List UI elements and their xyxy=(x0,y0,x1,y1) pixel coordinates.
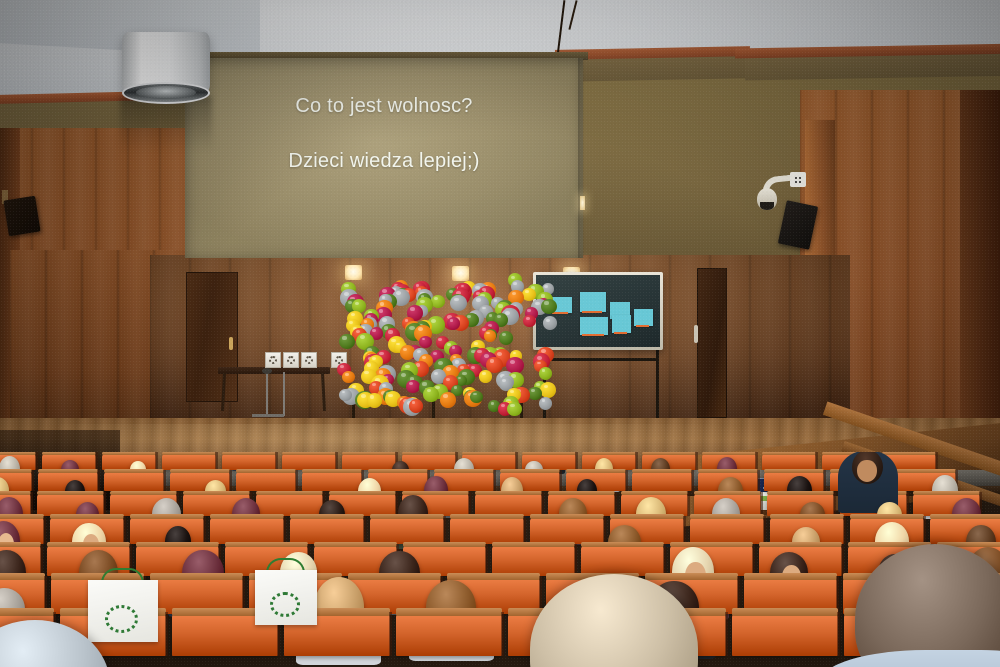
seat-divider xyxy=(165,612,168,656)
auditorium-seat[interactable] xyxy=(396,614,502,656)
audience-seating xyxy=(0,452,1000,667)
board-note-tape xyxy=(582,334,604,336)
ceiling-lamp-reflector xyxy=(136,86,196,99)
balloon xyxy=(440,392,457,408)
seat-top-rail xyxy=(396,608,502,616)
balloon xyxy=(539,397,553,410)
award-seal-icon xyxy=(287,356,295,364)
balloon xyxy=(450,295,467,311)
board-note xyxy=(612,315,631,333)
balloon xyxy=(484,330,496,342)
balloon xyxy=(447,317,461,330)
board-leg-right xyxy=(656,350,659,428)
balloon xyxy=(342,371,355,383)
award-seal-icon xyxy=(305,356,313,364)
balloon xyxy=(409,399,423,412)
board-note-tape xyxy=(636,325,649,327)
balloon xyxy=(470,391,483,404)
board-note-tape xyxy=(582,311,602,313)
seat-top-rail xyxy=(732,608,838,616)
screen-side-lamp xyxy=(580,196,585,210)
gift-bag-logo-icon xyxy=(105,605,139,633)
board-note-tape xyxy=(552,312,568,314)
balloon xyxy=(339,389,352,401)
stage-right-door[interactable] xyxy=(697,268,727,418)
balloon xyxy=(419,336,432,349)
board-note xyxy=(634,309,653,326)
balloon xyxy=(499,331,514,345)
projection-screen-text: Co to jest wolnosc? Dzieci wiedza lepiej… xyxy=(185,95,583,173)
board-note xyxy=(580,317,608,335)
balloon xyxy=(540,382,556,398)
microphone-stand-pole xyxy=(266,372,268,416)
seat-divider xyxy=(725,612,728,656)
seat-top-rail xyxy=(0,608,54,616)
slide-line-1: Co to jest wolnosc? xyxy=(185,95,583,118)
balloon xyxy=(507,402,522,417)
ceiling-lamp-shadow xyxy=(120,96,212,152)
balloon-decoration-wall xyxy=(334,270,560,418)
award-seal-icon xyxy=(269,356,277,364)
microphone-stand-base xyxy=(252,414,284,417)
balloon xyxy=(539,367,553,380)
board-note-tape xyxy=(614,332,627,334)
right-wall-lamp-lens xyxy=(760,202,774,210)
stage-right-door-handle[interactable] xyxy=(694,325,698,343)
awards-table xyxy=(218,367,330,374)
microphone-icon xyxy=(262,368,272,374)
seat-divider xyxy=(837,612,840,656)
wall-socket-holes xyxy=(794,176,802,183)
balloon xyxy=(479,370,492,382)
balloon xyxy=(431,295,445,308)
balloon xyxy=(541,299,557,314)
board-crossbar xyxy=(543,358,659,361)
balloon xyxy=(339,334,355,349)
seat-divider xyxy=(501,612,504,656)
balloon xyxy=(423,387,439,402)
board-note xyxy=(580,292,606,312)
gift-bag-logo-icon xyxy=(270,592,300,617)
stage-left-door-handle[interactable] xyxy=(229,337,233,350)
auditorium-photo: Co to jest wolnosc? Dzieci wiedza lepiej… xyxy=(0,0,1000,667)
right-wall-edge xyxy=(960,90,1000,470)
seat-divider xyxy=(389,612,392,656)
left-wall-speaker-icon xyxy=(3,196,40,237)
microphone-stand-pole-2 xyxy=(283,372,285,416)
slide-line-2: Dzieci wiedza lepiej;) xyxy=(185,150,583,173)
auditorium-seat[interactable] xyxy=(732,614,838,656)
balloon xyxy=(367,393,383,408)
